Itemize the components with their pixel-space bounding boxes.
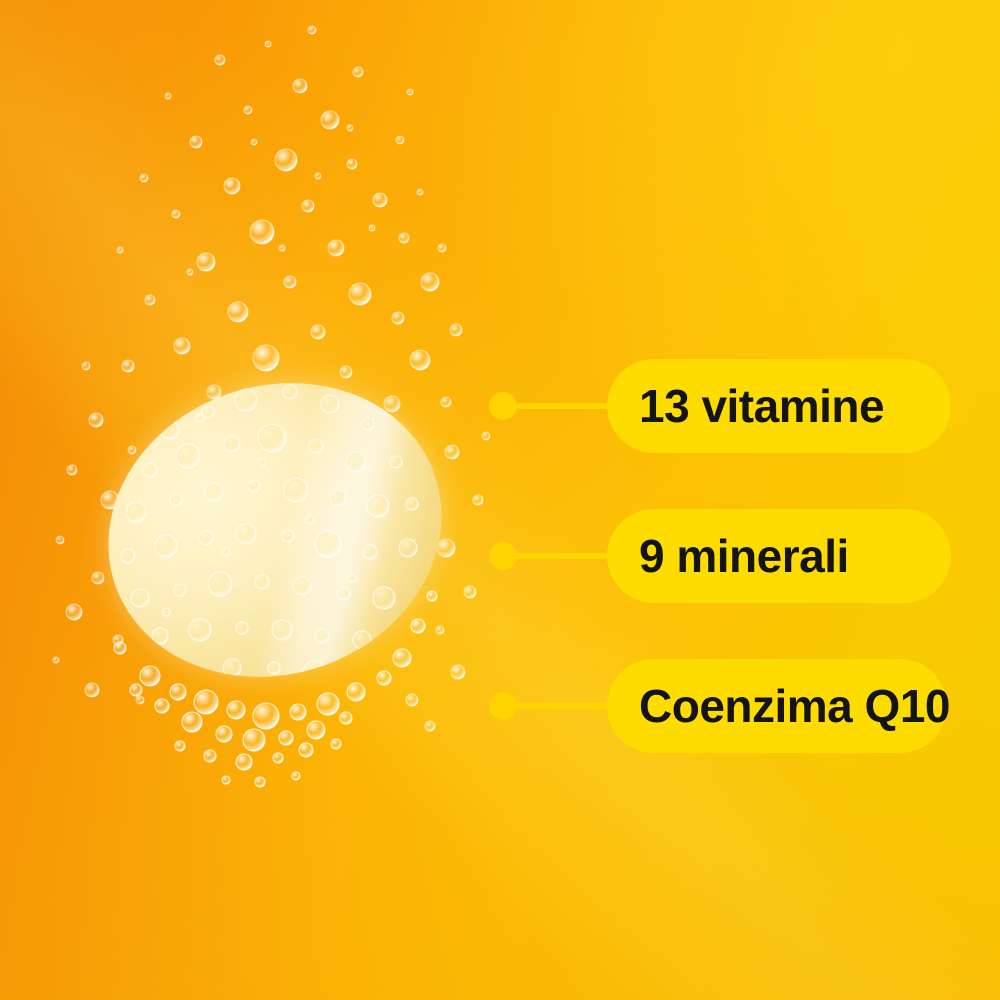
callout-connector-line [515, 403, 611, 409]
callout-coq10[interactable]: Coenzima Q10 [489, 659, 947, 753]
badge-minerals[interactable]: 9 minerali [607, 509, 951, 603]
badge-label: 9 minerali [639, 533, 849, 579]
callout-vitamins[interactable]: 13 vitamine [489, 359, 951, 453]
badge-label: Coenzima Q10 [639, 683, 950, 729]
badge-vitamins[interactable]: 13 vitamine [607, 359, 951, 453]
badge-coq10[interactable]: Coenzima Q10 [607, 659, 947, 753]
callout-list: 13 vitamine 9 minerali Coenzima Q10 [0, 0, 1000, 1000]
callout-minerals[interactable]: 9 minerali [489, 509, 951, 603]
callout-dot-icon [489, 542, 517, 570]
callout-dot-icon [489, 392, 517, 420]
callout-connector-line [515, 703, 611, 709]
product-graphic-canvas: 13 vitamine 9 minerali Coenzima Q10 [0, 0, 1000, 1000]
callout-connector-line [515, 553, 611, 559]
badge-label: 13 vitamine [639, 383, 884, 429]
callout-dot-icon [489, 692, 517, 720]
